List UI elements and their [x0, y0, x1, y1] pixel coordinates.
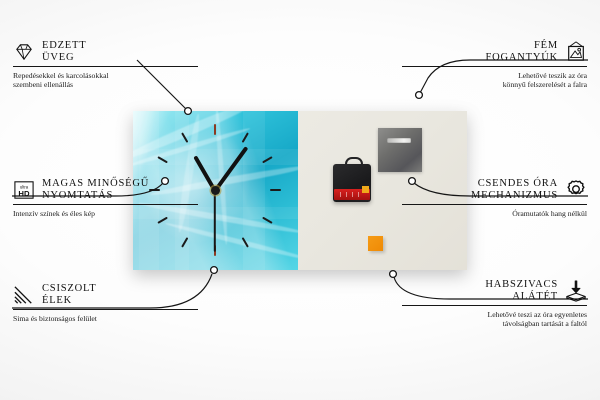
feature-polished-edges: CSISZOLT ÉLEK Sima és biztonságos felüle… — [13, 283, 198, 323]
feature-title-line2: ALÁTÉT — [485, 291, 558, 303]
feature-tempered-glass: EDZETT ÜVEG Repedésekkel és karcolásokka… — [13, 40, 198, 90]
feature-title-line2: ÉLEK — [42, 295, 96, 307]
wire-dot-foam-backing — [390, 271, 397, 278]
feature-title-line2: MECHANIZMUS — [471, 190, 558, 202]
feature-desc-line2: távolságban tartását a faltól — [402, 319, 587, 329]
diamond-icon — [13, 41, 35, 63]
feature-desc-line1: Óramutatók hang nélkül — [402, 209, 587, 219]
feature-title-line1: EDZETT — [42, 40, 86, 52]
feature-title-line1: FÉM — [485, 40, 558, 52]
feature-title-line1: MAGAS MINŐSÉGŰ — [42, 178, 149, 190]
feature-title-line1: HABSZIVACS — [485, 279, 558, 291]
wire-dot-metal-handles — [416, 92, 423, 99]
metal-hanger-plate — [378, 128, 422, 172]
svg-text:HD: HD — [18, 188, 30, 197]
feature-desc-line1: Repedésekkel és karcolásokkal — [13, 71, 198, 81]
foam-pad-arrow-icon — [565, 280, 587, 302]
feature-desc-line1: Lehetővé teszik az óra — [402, 71, 587, 81]
divider — [13, 309, 198, 310]
clock-hub — [211, 186, 220, 195]
gear-icon — [565, 179, 587, 201]
divider — [402, 66, 587, 67]
feature-desc-line2: szembeni ellenállás — [13, 80, 198, 90]
feature-desc-line1: Sima és biztonságos felület — [13, 314, 198, 324]
feature-high-quality-print: ultra HD MAGAS MINŐSÉGŰ NYOMTATÁS Intenz… — [13, 178, 198, 218]
divider — [13, 66, 198, 67]
feature-title-line2: ÜVEG — [42, 52, 86, 64]
feature-title-line2: NYOMTATÁS — [42, 190, 149, 202]
feature-desc-line1: Lehetővé teszi az óra egyenletes — [402, 310, 587, 320]
battery-terminal — [362, 186, 369, 193]
hour-tick-12 — [214, 124, 216, 135]
divider — [402, 305, 587, 306]
diagonal-lines-icon — [13, 284, 35, 306]
divider — [13, 204, 198, 205]
second-hand — [214, 190, 216, 252]
foam-pad — [368, 236, 383, 251]
feature-desc-line2: könnyű felszerelését a falra — [402, 80, 587, 90]
infographic-canvas: EDZETT ÜVEG Repedésekkel és karcolásokka… — [0, 0, 600, 400]
divider — [402, 204, 587, 205]
feature-title-line1: CSENDES ÓRA — [471, 178, 558, 190]
feature-title-line1: CSISZOLT — [42, 283, 96, 295]
feature-desc-line1: Intenzív színek és éles kép — [13, 209, 198, 219]
feature-foam-backing: HABSZIVACS ALÁTÉT Lehetővé teszi az óra … — [402, 279, 587, 329]
feature-title-line2: FOGANTYÚK — [485, 52, 558, 64]
picture-frame-icon — [565, 41, 587, 63]
hour-tick-3 — [270, 189, 281, 191]
ultra-hd-icon: ultra HD — [13, 179, 35, 201]
feature-quiet-mechanism: CSENDES ÓRA MECHANIZMUS Óramutatók hang … — [402, 178, 587, 218]
feature-metal-handles: FÉM FOGANTYÚK Lehetővé teszik az óra kön… — [402, 40, 587, 90]
hanger-slot — [387, 138, 411, 143]
